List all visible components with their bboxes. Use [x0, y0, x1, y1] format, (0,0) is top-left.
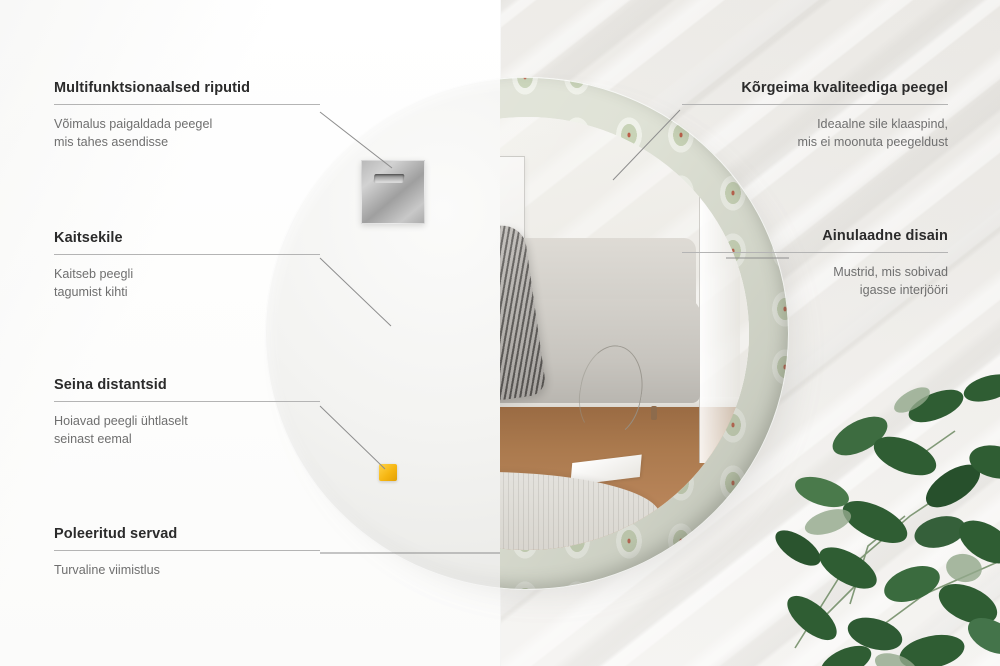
callout-title: Poleeritud servad — [54, 526, 320, 542]
callout-title: Kaitsekile — [54, 230, 320, 246]
callout-body-line-2: mis tahes asendisse — [54, 134, 320, 152]
callout-rule — [54, 401, 320, 402]
callout-rule — [682, 104, 948, 105]
callout-body-line-2: seinast eemal — [54, 431, 320, 449]
callout-body-line-2: mis ei moonuta peegeldust — [682, 134, 948, 152]
wall-spacer-block — [379, 464, 397, 481]
callout-body-line-2: tagumist kihti — [54, 284, 320, 302]
callout-rule — [54, 550, 320, 551]
callout-body-line-1: Võimalus paigaldada peegel — [54, 116, 320, 134]
callout-body-line-1: Hoiavad peegli ühtlaselt — [54, 413, 320, 431]
callout-body-line-1: Mustrid, mis sobivad — [682, 264, 948, 282]
callout-ainulaadne-disain: Ainulaadne disain Mustrid, mis sobivad i… — [682, 228, 948, 300]
round-mirror — [265, 77, 789, 590]
callout-body-line-1: Ideaalne sile klaaspind, — [682, 116, 948, 134]
callout-body-line-2: igasse interjööri — [682, 282, 948, 300]
callout-rule — [54, 104, 320, 105]
callout-title: Kõrgeima kvaliteediga peegel — [682, 80, 948, 96]
callout-title: Multifunktsionaalsed riputid — [54, 80, 320, 96]
callout-rule — [682, 252, 948, 253]
reflected-sofa-leg — [651, 406, 657, 420]
callout-title: Ainulaadne disain — [682, 228, 948, 244]
callout-multifunktsionaalsed-riputid: Multifunktsionaalsed riputid Võimalus pa… — [54, 80, 320, 152]
callout-body-line-1: Turvaline viimistlus — [54, 562, 320, 580]
infographic-canvas: Multifunktsionaalsed riputid Võimalus pa… — [0, 0, 1000, 666]
callout-rule — [54, 254, 320, 255]
callout-body-line-1: Kaitseb peegli — [54, 266, 320, 284]
callout-kaitsekile: Kaitsekile Kaitseb peegli tagumist kihti — [54, 230, 320, 302]
hanger-keyhole-slot — [374, 174, 405, 183]
callout-seina-distantsid: Seina distantsid Hoiavad peegli ühtlasel… — [54, 377, 320, 449]
callout-poleeritud-servad: Poleeritud servad Turvaline viimistlus — [54, 526, 320, 580]
callout-korgeima-kvaliteediga-peegel: Kõrgeima kvaliteediga peegel Ideaalne si… — [682, 80, 948, 152]
mirror-hanger-plate — [361, 160, 425, 224]
callout-title: Seina distantsid — [54, 377, 320, 393]
